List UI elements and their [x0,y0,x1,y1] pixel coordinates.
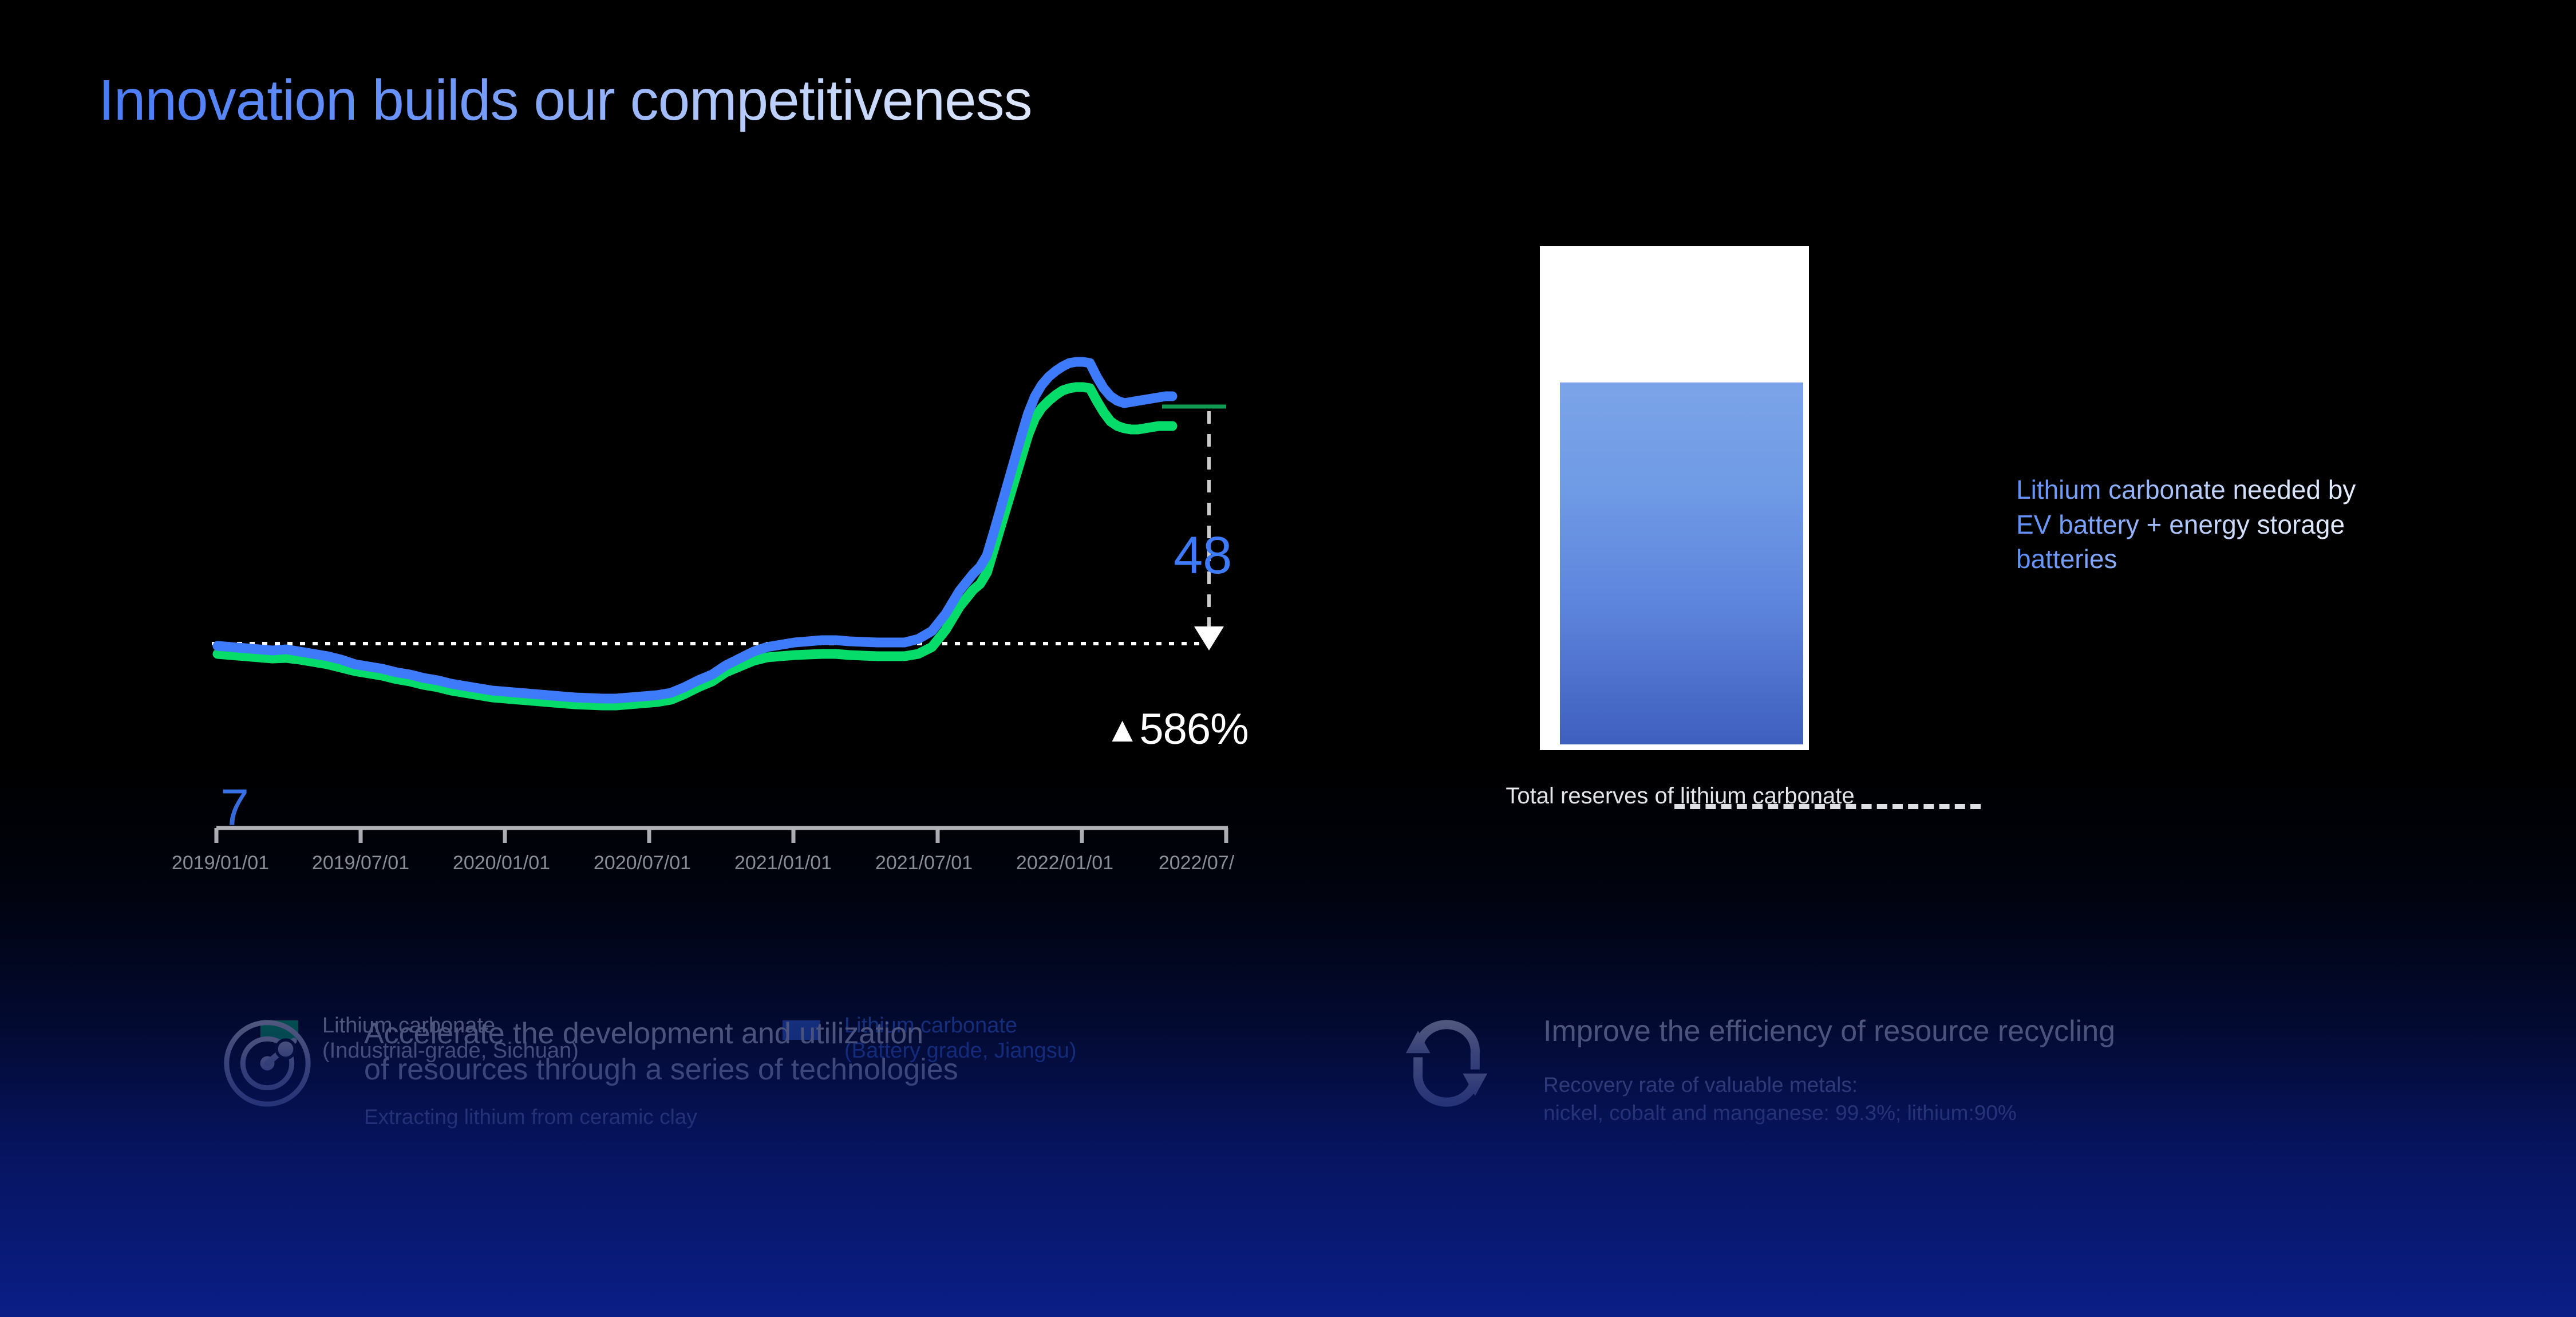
triangle-up-icon: ▲ [1105,710,1139,750]
series-battery-grade-line [218,362,1172,699]
chart-peak-value-label: 48 [1174,526,1232,586]
price-chart-panel: 2019/01/01 2019/07/01 2020/01/01 2020/07… [0,229,1317,916]
feature-accelerate-development: Accelerate the development and utilizati… [216,1008,1190,1131]
price-chart-svg: 2019/01/01 2019/07/01 2020/01/01 2020/07… [0,229,1317,916]
feature-right-body: Improve the efficiency of resource recyc… [1543,1008,2115,1127]
x-tick-label: 2019/01/01 [172,852,269,874]
x-tick-label: 2021/07/01 [875,852,973,874]
x-tick-label: 2020/01/01 [453,852,550,874]
beaker-liquid-fill [1560,383,1803,744]
slide-root: Innovation builds our competitiveness [0,0,2576,1317]
x-tick-label: 2022/07/ [1159,852,1235,874]
x-tick-label: 2019/07/01 [312,852,409,874]
x-tick-label: 2022/01/01 [1016,852,1113,874]
beaker-caption: Total reserves of lithium carbonate [1454,783,1906,809]
chart-growth-badge: ▲586% [1105,704,1249,754]
x-tick-label: 2021/01/01 [734,852,832,874]
growth-arrowhead-icon [1194,626,1224,650]
page-title: Innovation builds our competitiveness [98,68,1032,133]
feature-left-subtitle: Extracting lithium from ceramic clay [364,1103,958,1131]
feature-resource-recycling: Improve the efficiency of resource recyc… [1396,1008,2426,1127]
feature-left-title: Accelerate the development and utilizati… [364,1016,958,1089]
x-tick-label: 2020/07/01 [594,852,691,874]
feature-left-body: Accelerate the development and utilizati… [364,1008,958,1131]
beaker-level-label: Lithium carbonate needed by EV battery +… [2016,472,2383,577]
chart-start-value-label: 7 [220,779,249,838]
series-industrial-grade-line [218,387,1172,705]
beaker-empty-portion [1546,252,1803,383]
feature-right-subtitle: Recovery rate of valuable metals: nickel… [1543,1071,2115,1126]
x-axis-tick-labels: 2019/01/01 2019/07/01 2020/01/01 2020/07… [172,852,1235,874]
x-axis [216,828,1228,843]
radar-target-icon [216,1012,318,1114]
growth-value: 586% [1139,705,1248,754]
feature-right-title: Improve the efficiency of resource recyc… [1543,1014,2115,1050]
recycle-arrows-icon [1396,1012,1498,1114]
